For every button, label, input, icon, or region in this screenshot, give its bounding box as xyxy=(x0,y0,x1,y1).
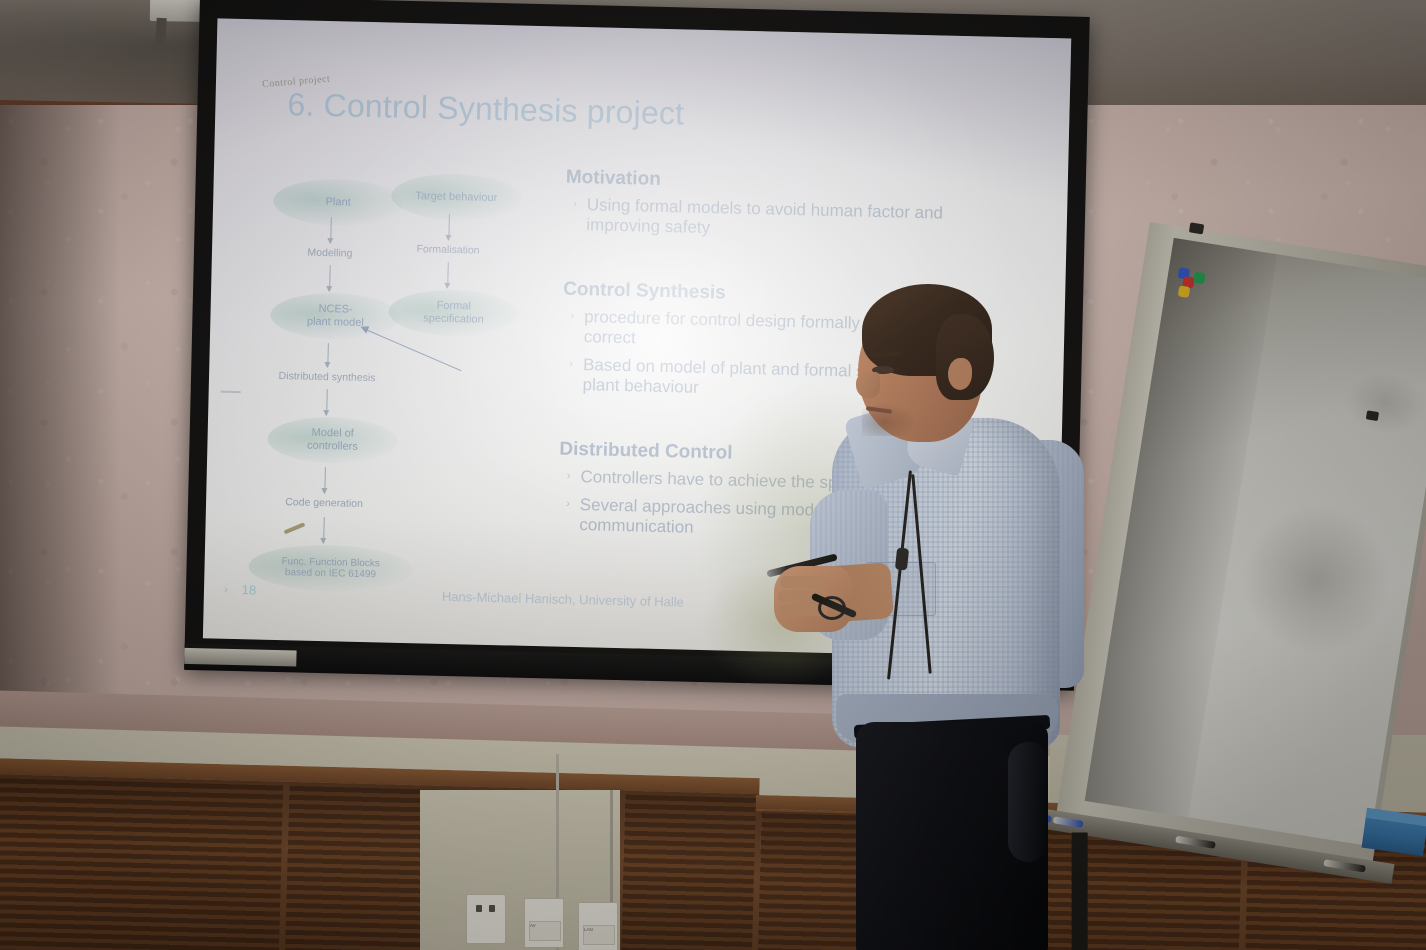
magnet-cluster[interactable] xyxy=(1174,267,1219,307)
bullet-arrow-icon: › xyxy=(567,467,571,487)
presenter-nose xyxy=(856,372,880,398)
flow-arrow xyxy=(326,389,328,415)
presenter-finger xyxy=(780,576,828,588)
whiteboard-clip xyxy=(1366,410,1379,421)
flow-step-code-generation: Code generation xyxy=(254,495,394,510)
flow-node-plant: Plant xyxy=(273,178,404,227)
lan-socket-plate[interactable]: LAN xyxy=(578,902,618,950)
lecture-room-photo: AV LAN 6. Control Synthesis project Plan… xyxy=(0,0,1426,950)
yellow-magnet-icon[interactable] xyxy=(1178,285,1191,298)
whiteboard-clip xyxy=(1189,222,1204,234)
wall-outlet-panel: AV LAN xyxy=(420,790,640,950)
presenter xyxy=(770,290,1110,950)
bullet-arrow-icon: › xyxy=(565,495,570,535)
socket-hole xyxy=(476,905,482,912)
flow-node-formal-specification: Formal specification xyxy=(388,289,519,338)
flow-arrow xyxy=(323,517,325,543)
bullet-arrow-icon: › xyxy=(570,307,575,347)
flow-arrow xyxy=(329,265,331,291)
bullet-arrow-icon: › xyxy=(569,355,574,395)
green-magnet-icon[interactable] xyxy=(1193,272,1206,285)
av-socket-plate[interactable]: AV xyxy=(524,898,564,948)
flow-node-function-blocks: Func. Function Blocks based on IEC 61499 xyxy=(248,543,413,593)
flow-arrow xyxy=(447,262,449,288)
bullet-arrow-icon: › xyxy=(572,195,577,235)
socket-hole xyxy=(489,905,495,912)
power-outlet[interactable] xyxy=(466,894,506,944)
trouser-highlight xyxy=(1008,742,1048,862)
whiteboard-smudge xyxy=(1231,494,1403,666)
page-number-text: 18 xyxy=(242,582,257,597)
flow-arrow xyxy=(327,343,329,367)
flow-node-model-of-controllers: Model of controllers xyxy=(267,416,398,465)
flow-node-target-behaviour: Target behaviour xyxy=(391,173,522,222)
socket-label-text: AV xyxy=(530,923,558,929)
blue-eraser-box[interactable] xyxy=(1362,808,1426,856)
laser-stray-mark xyxy=(284,522,306,534)
wood-shadow xyxy=(0,774,759,950)
flow-diagram: Plant Modelling NCES- plant model Target… xyxy=(230,169,540,616)
flow-arrow xyxy=(330,217,332,243)
wooden-louvered-panels-left xyxy=(0,758,760,950)
neck-cord-clip xyxy=(895,547,909,570)
section-heading-motivation: Motivation xyxy=(566,167,996,199)
presenter-ear xyxy=(948,358,972,390)
bullet-text: Using formal models to avoid human facto… xyxy=(586,195,995,245)
screen-roller-endcap xyxy=(184,648,296,667)
page-arrow-icon: › xyxy=(224,583,228,595)
flow-arrow xyxy=(324,467,326,493)
bullet-item: › Using formal models to avoid human fac… xyxy=(572,195,995,245)
socket-label-text: LAN xyxy=(584,927,612,933)
slide-title: 6. Control Synthesis project xyxy=(287,86,685,132)
flow-step-distributed-synthesis: Distributed synthesis xyxy=(257,369,397,384)
diagram-stray-line xyxy=(221,391,241,393)
flow-node-nces-plant-model: NCES- plant model xyxy=(270,292,401,341)
whiteboard-smudge xyxy=(1341,367,1426,439)
flow-arrow xyxy=(448,214,450,240)
projector-bracket xyxy=(155,18,166,46)
slide-page-number: › 18 xyxy=(224,582,256,598)
